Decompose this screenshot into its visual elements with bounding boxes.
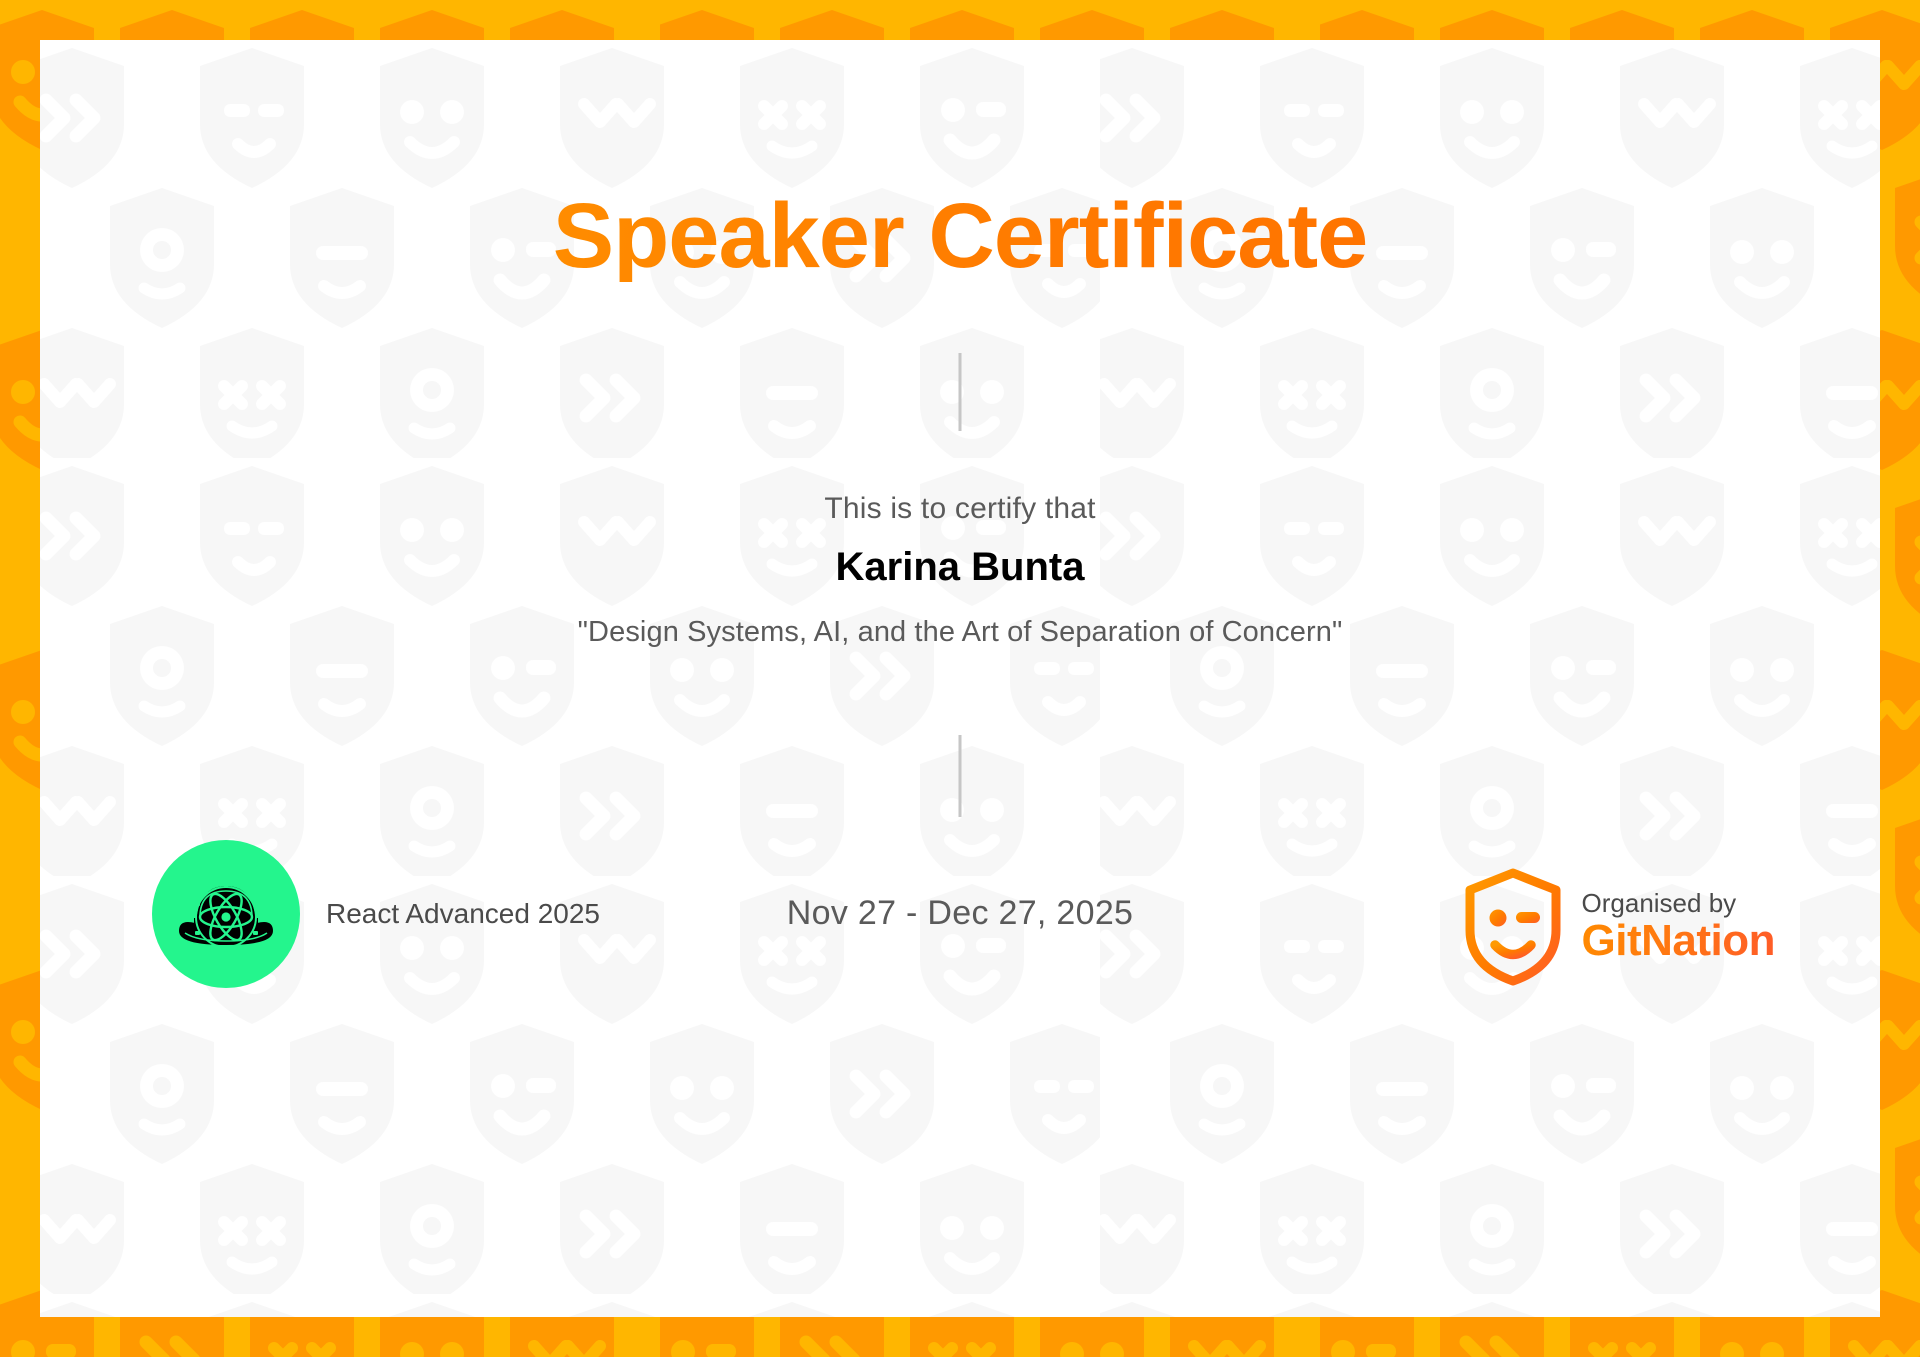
divider-bottom (959, 735, 962, 817)
certificate-frame: Speaker Certificate This is to certify t… (0, 0, 1920, 1357)
recipient-name: Karina Bunta (40, 545, 1880, 590)
certificate-card: Speaker Certificate This is to certify t… (40, 40, 1880, 1317)
certify-line: This is to certify that (40, 492, 1880, 526)
certificate-footer: React Advanced 2025 Nov 27 - Dec 27, 202… (40, 840, 1880, 1040)
organiser-label: Organised by (1582, 890, 1775, 917)
gitnation-shield-face-icon (1464, 868, 1562, 986)
organiser-name: GitNation (1582, 918, 1775, 964)
talk-title: "Design Systems, AI, and the Art of Sepa… (40, 616, 1880, 649)
divider-top (959, 353, 962, 431)
page-title: Speaker Certificate (40, 190, 1880, 282)
organiser-block: Organised by GitNation (1464, 868, 1775, 986)
